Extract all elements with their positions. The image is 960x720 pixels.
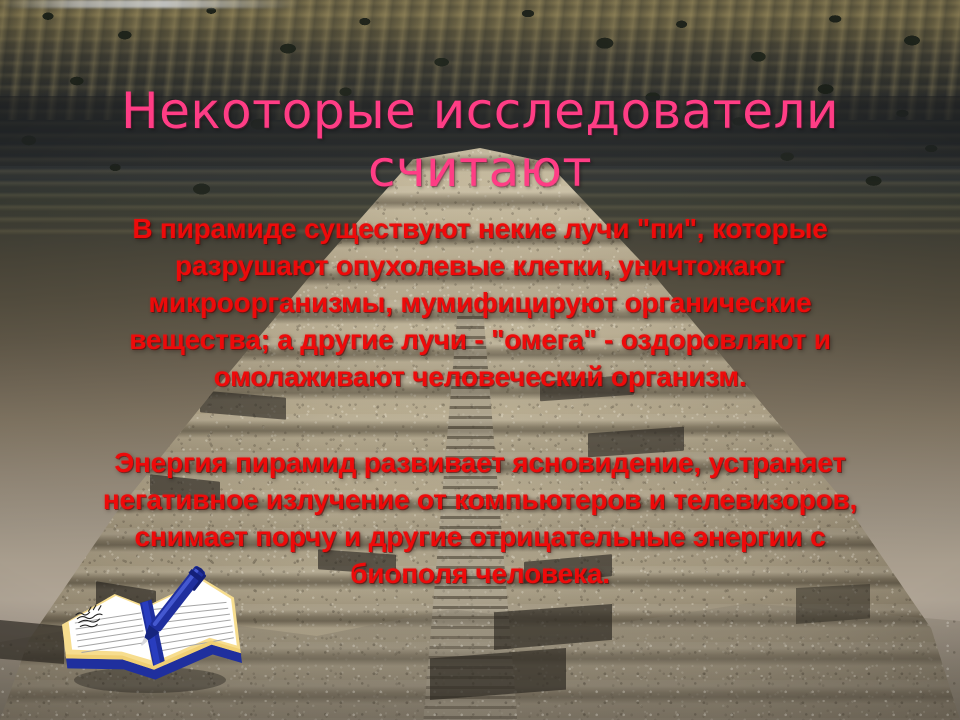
slide-title: Некоторые исследователи считают xyxy=(0,82,960,198)
paragraph-1-line-5: омолаживают человеческий организм. xyxy=(50,358,910,395)
paragraph-2-line-3: снимает порчу и другие отрицательные эне… xyxy=(50,518,910,555)
slide-title-line-2: считают xyxy=(0,140,960,198)
paragraph-1-line-3: микроорганизмы, мумифицируют органически… xyxy=(50,284,910,321)
notebook-with-pen-clipart xyxy=(58,552,244,700)
paragraph-2-line-1: Энергия пирамид развивает ясновидение, у… xyxy=(50,444,910,481)
notebook-icon xyxy=(58,552,244,700)
paragraph-1-line-4: вещества; а другие лучи - "омега" - оздо… xyxy=(50,321,910,358)
paragraph-1-line-1: В пирамиде существуют некие лучи "пи", к… xyxy=(50,210,910,247)
paragraph-1-line-2: разрушают опухолевые клетки, уничтожают xyxy=(50,247,910,284)
presentation-slide: Некоторые исследователи считают В пирами… xyxy=(0,0,960,720)
slide-title-line-1: Некоторые исследователи xyxy=(0,82,960,140)
paragraph-2-line-2: негативное излучение от компьютеров и те… xyxy=(50,481,910,518)
body-paragraph-1: В пирамиде существуют некие лучи "пи", к… xyxy=(50,210,910,395)
